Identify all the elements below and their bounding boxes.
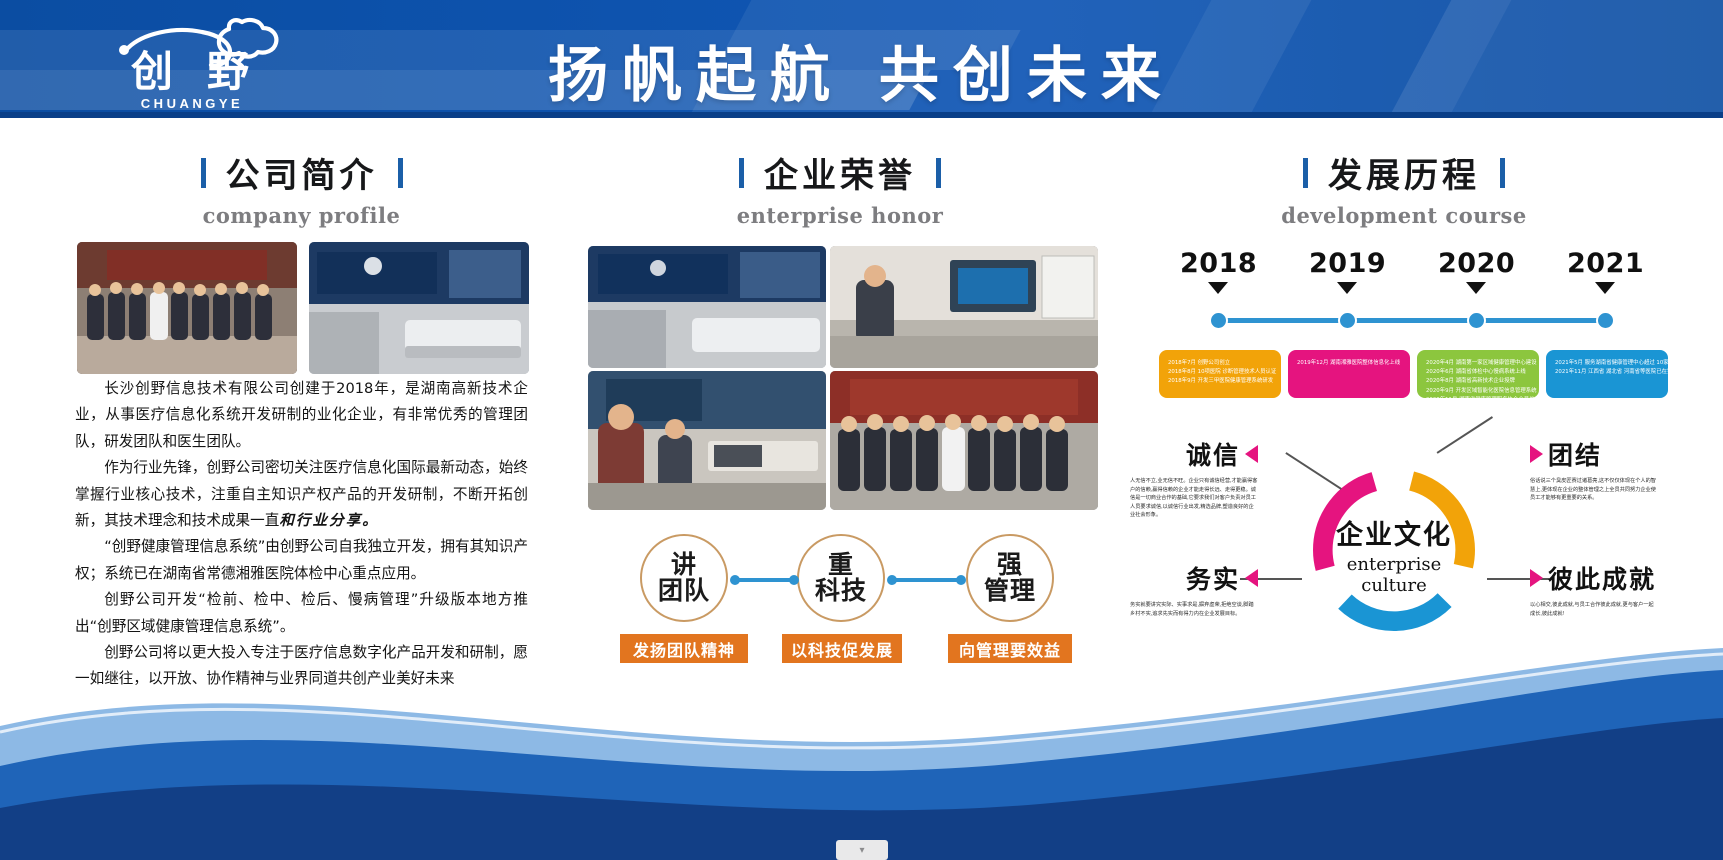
scroll-indicator[interactable]: ▾ [836, 840, 888, 860]
culture-value-chengxin: 诚信 人无信不立,业无信不旺。企业只有诚信经营,才能赢得客户的信赖,赢得信赖的企… [1130, 436, 1258, 520]
timeline-node-2020 [1467, 311, 1486, 330]
heading-bar-left [201, 158, 206, 188]
culture-value-tuanjie-label: 团结 [1548, 436, 1602, 472]
pillar-circle-2-text: 重 科技 [815, 552, 867, 604]
poster-canvas: 创 野 CHUANGYE 扬帆起航 共创未来 公司简介 company prof… [0, 0, 1723, 860]
pillar-2-line-1: 重 [815, 552, 867, 578]
timeline-card-2020-line-2: 2020年6月 湖南省体检中心慢病系统上线 [1426, 368, 1531, 377]
timeline-year-2021: 2021 [1567, 248, 1644, 279]
timeline-card-2018: 2018年7月 创野公司创立 2018年8月 10项医院 诊断管理技术人员认证 … [1159, 350, 1281, 398]
heading-text: 企业荣誉 [764, 148, 916, 197]
header-bottom-rule [0, 112, 1723, 118]
heading-text: 发展历程 [1328, 148, 1480, 197]
bottom-wave-decoration [0, 648, 1723, 860]
timeline-card-notch [1473, 350, 1491, 352]
triangle-left-icon [1245, 569, 1258, 587]
timeline-year-marker-2019 [1337, 282, 1357, 294]
timeline-node-2021 [1596, 311, 1615, 330]
culture-center-en-1: enterprise [1305, 554, 1483, 575]
section-title-en-profile: company profile [75, 203, 528, 228]
timeline-card-2020-line-3: 2020年8月 湖南省高新技术企业授牌 [1426, 377, 1531, 386]
timeline-year-marker-2021 [1595, 282, 1615, 294]
section-title-cn-honor: 企业荣誉 [584, 148, 1096, 197]
pillar-circle-2: 重 科技 [797, 534, 885, 622]
pillar-3-line-1: 强 [984, 552, 1036, 578]
section-title-en-honor: enterprise honor [584, 203, 1096, 228]
culture-value-wushi: 务实 务实就要讲究实际、实事求是,摒弃虚荣,拒绝空谈,脚踏乡村不实,追求先实而有… [1130, 560, 1258, 618]
section-heading-course: 发展历程 development course [1148, 148, 1660, 228]
culture-lead-line-top-right [1437, 416, 1493, 453]
timeline-card-2021-line-2: 2021年11月 江西省 湖北省 河南省等医院已在实施应用系统 [1555, 368, 1660, 377]
culture-center-label: 企业文化 enterprise culture [1305, 513, 1483, 596]
culture-center-cn: 企业文化 [1305, 513, 1483, 552]
culture-value-wushi-desc: 务实就要讲究实际、实事求是,摒弃虚荣,拒绝空谈,脚踏乡村不实,追求先实而有得力内… [1130, 601, 1258, 618]
poster-main-title: 扬帆起航 共创未来 [0, 27, 1723, 114]
culture-center-en-2: culture [1305, 575, 1483, 596]
pillar-connector-dot-2a [887, 575, 897, 585]
timeline-card-2021: 2021年5月 服务湖南省健康管理中心超过 10家 2021年11月 江西省 湖… [1546, 350, 1668, 398]
honor-photo-2 [830, 246, 1098, 368]
culture-value-wushi-label: 务实 [1186, 560, 1240, 596]
timeline-card-2020-line-1: 2020年4月 湖南第一家区域健康管理中心建设 [1426, 359, 1531, 368]
timeline-rail [1212, 318, 1612, 323]
timeline-card-2018-line-3: 2018年9月 开发三甲医院健康管理系统研发 [1168, 377, 1273, 386]
section-heading-honor: 企业荣誉 enterprise honor [584, 148, 1096, 228]
timeline-year-marker-2018 [1208, 282, 1228, 294]
culture-value-chengxin-desc: 人无信不立,业无信不旺。企业只有诚信经营,才能赢得客户的信赖,赢得信赖的企业才能… [1130, 477, 1258, 520]
honor-photo-1 [588, 246, 826, 368]
culture-value-tuanjie-desc: 俗话说三个臭皮匠赛过诸葛亮,这不仅仅体现在个人的智慧上,更体现在企业的整体管理之… [1530, 477, 1658, 503]
pillar-connector-1 [735, 578, 795, 582]
pillar-connector-dot-2b [956, 575, 966, 585]
timeline-year-2019: 2019 [1309, 248, 1386, 279]
timeline-card-2020: 2020年4月 湖南第一家区域健康管理中心建设 2020年6月 湖南省体检中心慢… [1417, 350, 1539, 398]
profile-brush-phrase: 和行业分享。 [279, 512, 379, 529]
poster-header: 创 野 CHUANGYE 扬帆起航 共创未来 [0, 0, 1723, 118]
pillar-2-line-2: 科技 [815, 578, 867, 604]
pillar-circle-3-text: 强 管理 [984, 552, 1036, 604]
profile-photo-office [309, 242, 529, 374]
section-heading-profile: 公司简介 company profile [75, 148, 528, 228]
section-title-cn-profile: 公司简介 [75, 148, 528, 197]
timeline-year-2018: 2018 [1180, 248, 1257, 279]
timeline-card-2019-line-1: 2019年12月 湖南湘雅医院整体信息化上线 [1297, 359, 1402, 368]
pillar-3-line-2: 管理 [984, 578, 1036, 604]
heading-bar-left [1303, 158, 1308, 188]
timeline-card-2021-line-1: 2021年5月 服务湖南省健康管理中心超过 10家 [1555, 359, 1660, 368]
timeline-card-2019: 2019年12月 湖南湘雅医院整体信息化上线 [1288, 350, 1410, 398]
honor-photo-4 [830, 371, 1098, 510]
culture-value-chengxin-label: 诚信 [1186, 436, 1240, 472]
timeline-card-2018-line-2: 2018年8月 10项医院 诊断管理技术人员认证 [1168, 368, 1273, 377]
pillar-circle-3: 强 管理 [966, 534, 1054, 622]
culture-value-tuanjie: 团结 俗话说三个臭皮匠赛过诸葛亮,这不仅仅体现在个人的智慧上,更体现在企业的整体… [1530, 436, 1658, 503]
timeline-card-notch [1344, 350, 1362, 352]
section-title-cn-course: 发展历程 [1148, 148, 1660, 197]
heading-bar-right [936, 158, 941, 188]
timeline-year-2020: 2020 [1438, 248, 1515, 279]
timeline-node-2018 [1209, 311, 1228, 330]
profile-paragraph-1: 长沙创野信息技术有限公司创建于2018年，是湖南高新技术企业，从事医疗信息化系统… [75, 376, 528, 455]
triangle-left-icon [1245, 445, 1258, 463]
timeline-card-notch [1602, 350, 1620, 352]
pillar-circle-1-text: 讲 团队 [658, 552, 710, 604]
pillar-connector-2 [892, 578, 962, 582]
profile-paragraph-4: 创野公司开发“检前、检中、检后、慢病管理”升级版本地方推出“创野区域健康管理信息… [75, 587, 528, 640]
pillar-connector-dot-1b [789, 575, 799, 585]
culture-value-bicichengjiu-label: 彼此成就 [1548, 560, 1656, 596]
timeline-card-2018-line-1: 2018年7月 创野公司创立 [1168, 359, 1273, 368]
section-title-en-course: development course [1148, 203, 1660, 228]
timeline-card-2020-line-5: 2020年11月 湖南省健康管理服务协会会员单位 [1426, 396, 1531, 398]
profile-paragraph-3: “创野健康管理信息系统”由创野公司自我独立开发，拥有其知识产权；系统已在湖南省常… [75, 534, 528, 587]
culture-value-wushi-title: 务实 [1130, 560, 1258, 596]
timeline-year-marker-2020 [1466, 282, 1486, 294]
heading-text: 公司简介 [226, 148, 378, 197]
timeline-node-2019 [1338, 311, 1357, 330]
pillar-connector-dot-1a [730, 575, 740, 585]
culture-value-chengxin-title: 诚信 [1130, 436, 1258, 472]
timeline-card-notch [1215, 350, 1233, 352]
timeline-card-2020-line-4: 2020年9月 开发区域智能化医院信息管理系统 [1426, 387, 1531, 396]
culture-value-tuanjie-title: 团结 [1530, 436, 1658, 472]
profile-photo-team [77, 242, 297, 374]
heading-bar-right [398, 158, 403, 188]
triangle-right-icon [1530, 569, 1543, 587]
pillar-1-line-1: 讲 [658, 552, 710, 578]
heading-bar-right [1500, 158, 1505, 188]
culture-value-bicichengjiu-desc: 以心相交,彼此成就,与员工合作彼此成就,更与客户一起成长,彼此成就! [1530, 601, 1658, 618]
culture-value-bicichengjiu: 彼此成就 以心相交,彼此成就,与员工合作彼此成就,更与客户一起成长,彼此成就! [1530, 560, 1658, 618]
profile-body-text: 长沙创野信息技术有限公司创建于2018年，是湖南高新技术企业，从事医疗信息化系统… [75, 376, 528, 693]
culture-value-bicichengjiu-title: 彼此成就 [1530, 560, 1658, 596]
honor-photo-3 [588, 371, 826, 510]
profile-paragraph-2: 作为行业先锋，创野公司密切关注医疗信息化国际最新动态，始终掌握行业核心技术，注重… [75, 455, 528, 534]
pillar-1-line-2: 团队 [658, 578, 710, 604]
culture-ring: 企业文化 enterprise culture [1305, 461, 1483, 639]
triangle-right-icon [1530, 445, 1543, 463]
heading-bar-left [739, 158, 744, 188]
pillar-circle-1: 讲 团队 [640, 534, 728, 622]
